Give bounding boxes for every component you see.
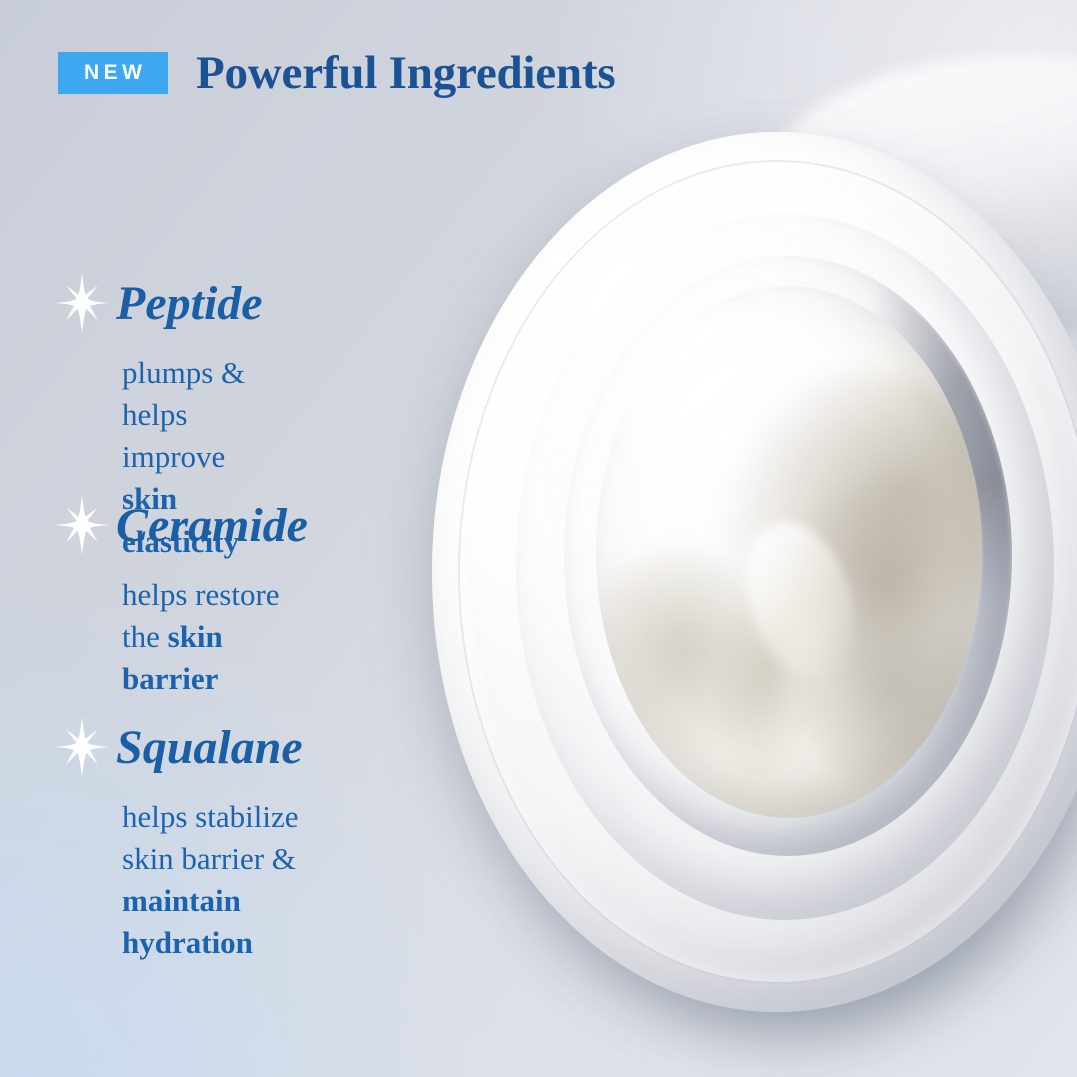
desc-plain: helps stabilize skin barrier & bbox=[122, 799, 298, 876]
ingredient-name: Ceramide bbox=[116, 498, 308, 553]
new-badge: NEW bbox=[58, 52, 168, 94]
page-title: Powerful Ingredients bbox=[196, 46, 615, 100]
ingredient-description: helps stabilize skin barrier & maintain … bbox=[122, 796, 303, 965]
desc-plain: plumps & helps improve bbox=[122, 355, 245, 474]
ingredient-heading-row: Peptide bbox=[58, 272, 263, 334]
sparkle-icon bbox=[54, 494, 110, 556]
ingredient-heading-row: Squalane bbox=[58, 716, 303, 778]
ingredient-name: Peptide bbox=[116, 276, 263, 331]
ingredient-name: Squalane bbox=[116, 720, 303, 775]
promo-card: NEW Powerful Ingredients Peptide plumps … bbox=[0, 0, 1077, 1077]
list-item: Squalane helps stabilize skin barrier & … bbox=[58, 716, 303, 965]
ingredient-description: helps restore the skin barrier bbox=[122, 574, 308, 700]
product-image-cream-jar bbox=[398, 96, 1077, 1056]
header: NEW Powerful Ingredients bbox=[58, 46, 615, 100]
sparkle-icon bbox=[54, 716, 110, 778]
list-item: Ceramide helps restore the skin barrier bbox=[58, 494, 308, 700]
desc-bold: maintain hydration bbox=[122, 883, 253, 960]
cream-surface bbox=[596, 286, 982, 818]
sparkle-icon bbox=[54, 272, 110, 334]
ingredient-heading-row: Ceramide bbox=[58, 494, 308, 556]
